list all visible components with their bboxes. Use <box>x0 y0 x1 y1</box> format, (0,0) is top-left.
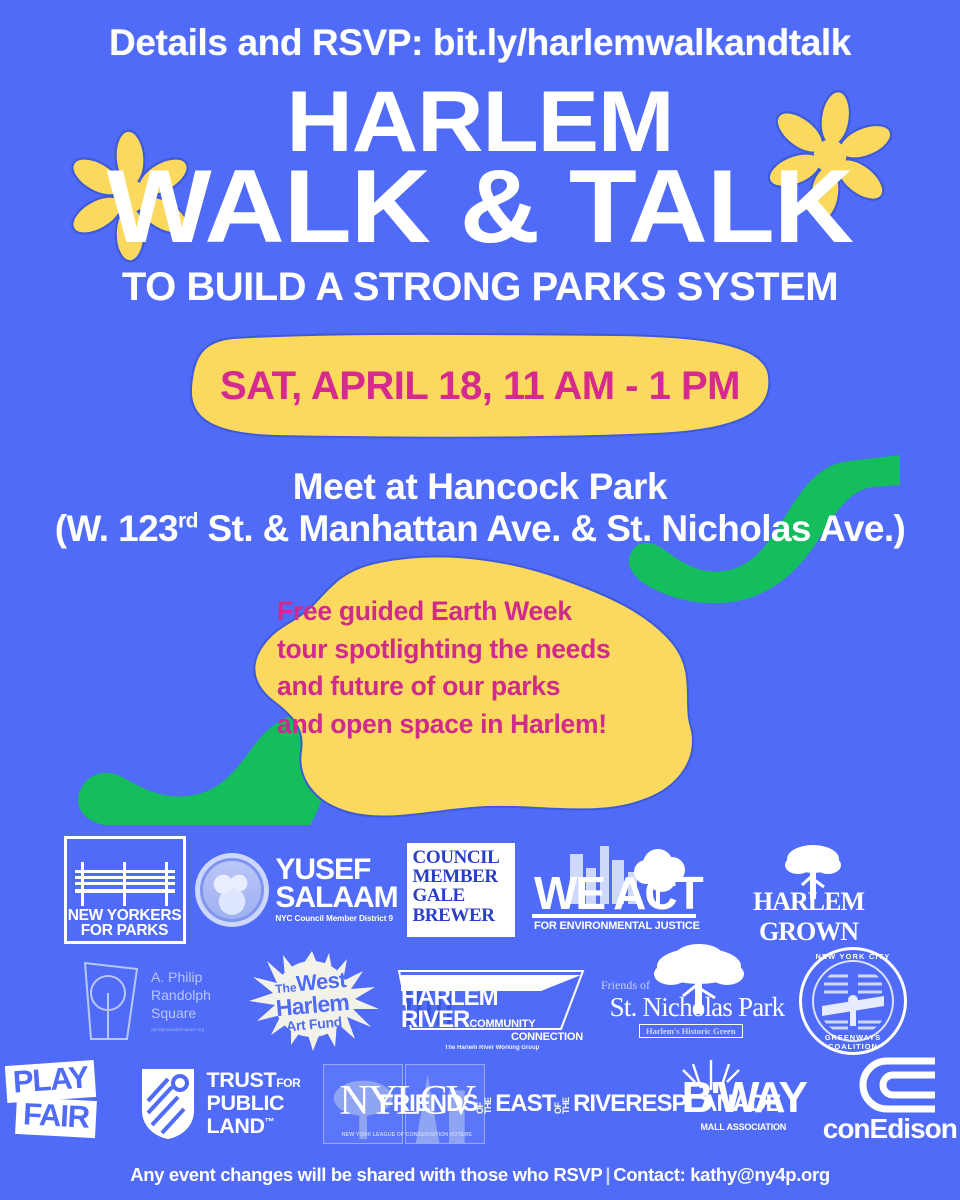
bway-wordmark: B'WAY <box>673 1076 813 1120</box>
fer-ofthe-1: OF THE <box>477 1094 493 1114</box>
shield-icon <box>138 1067 198 1141</box>
date-pill: SAT, APRIL 18, 11 AM - 1 PM <box>185 332 775 442</box>
rsvp-line: Details and RSVP: bit.ly/harlemwalkandta… <box>0 22 960 64</box>
sponsor-logos: NEW YORKERS FOR PARKS YUSEF SALAAM NYC C… <box>0 833 960 1151</box>
aphilip-url: aphiliprandolphsquare.org <box>151 1027 211 1033</box>
logo-new-yorkers-for-parks: NEW YORKERS FOR PARKS <box>57 834 193 946</box>
coned-wordmark: conEdison <box>815 1113 960 1145</box>
tpl-public: PUBLIC <box>207 1092 301 1115</box>
logo-nyc-greenways-coalition: NEW YORK CITY GREENWAYS COALITION <box>799 947 907 1055</box>
location-line1: Meet at Hancock Park <box>0 466 960 508</box>
fer-friends: FRIENDS <box>379 1093 477 1114</box>
logo-play-fair: PLAY FAIR <box>0 1061 116 1146</box>
logo-harlem-river-community-connection: HARLEM RIVERCOMMUNITY CONNECTION The Har… <box>391 951 591 1051</box>
weact-tagline: FOR ENVIRONMENTAL JUSTICE <box>534 920 700 932</box>
date-pill-label: SAT, APRIL 18, 11 AM - 1 PM <box>185 332 775 442</box>
fsnp-park-name: St. Nicholas Park <box>599 992 795 1023</box>
fer-ofthe-2: OF THE <box>555 1094 571 1114</box>
ny4p-line1: NEW YORKERS <box>68 908 182 924</box>
page-title-line2: WALK & TALK <box>0 160 960 256</box>
fsnp-tagline: Harlem's Historic Green <box>639 1024 743 1038</box>
hrcc-river: RIVER <box>401 1006 469 1033</box>
logo-friends-of-st-nicholas-park: Friends of St. Nicholas Park Harlem's Hi… <box>595 948 795 1054</box>
logo-west-harlem-art-fund: TheWest Harlem Art Fund <box>237 947 387 1055</box>
tpl-land: LAND <box>207 1114 265 1138</box>
yusef-first-name: YUSEF <box>275 856 397 884</box>
fsnp-friends-of: Friends of <box>601 978 650 993</box>
square-plaza-icon <box>75 959 143 1043</box>
brewer-line1: COUNCIL <box>413 848 509 867</box>
brewer-line3: GALE <box>413 886 509 905</box>
logo-bway-mall-association: B'WAY MALL ASSOCIATION <box>673 1058 809 1150</box>
location-line2-rest: St. & Manhattan Ave. & St. Nicholas Ave.… <box>198 508 905 549</box>
poster-canvas: Details and RSVP: bit.ly/harlemwalkandta… <box>0 0 960 1200</box>
bway-subtitle: MALL ASSOCIATION <box>673 1122 813 1132</box>
location-line2-prefix: (W. 123 <box>55 508 178 549</box>
logo-harlem-grown: HARLEM GROWN <box>714 845 904 935</box>
description-line-4: and open space in Harlem! <box>277 706 697 744</box>
harlem-grown-wordmark: HARLEM GROWN <box>714 887 904 947</box>
footer-separator: | <box>602 1164 613 1185</box>
sponsor-row-1: NEW YORKERS FOR PARKS YUSEF SALAAM NYC C… <box>0 833 960 946</box>
description-blob: Free guided Earth Week tour spotlighting… <box>205 555 735 820</box>
greenways-top-text: NEW YORK CITY <box>799 952 907 961</box>
logo-trust-for-public-land: TRUSTFOR PUBLIC LAND™ <box>122 1061 316 1147</box>
logo-friends-of-the-east-river-esplanade: FRIENDS OF THEEAST OF THERIVER ESPLANADE <box>492 1058 667 1150</box>
brewer-line4: BREWER <box>413 906 509 925</box>
aphilip-line3: Square <box>151 1005 211 1023</box>
greenway-path-icon <box>818 966 888 1036</box>
footer: Any event changes will be shared with th… <box>0 1164 960 1186</box>
page-subtitle: TO BUILD A STRONG PARKS SYSTEM <box>0 265 960 310</box>
tpl-tm: ™ <box>265 1117 275 1128</box>
hrcc-subtitle: The Harlem River Working Group <box>401 1045 583 1051</box>
logo-gale-brewer: COUNCIL MEMBER GALE BREWER <box>401 840 521 940</box>
description-line-3: and future of our parks <box>277 668 697 706</box>
logo-a-philip-randolph-square: A. Philip Randolph Square aphiliprandolp… <box>53 951 233 1051</box>
logo-con-edison: conEdison <box>815 1059 960 1149</box>
description-line-2: tour spotlighting the needs <box>277 631 697 669</box>
ny4p-label: NEW YORKERS FOR PARKS <box>68 908 182 939</box>
brewer-line2: MEMBER <box>413 867 509 886</box>
tpl-for: FOR <box>276 1076 300 1090</box>
logo-yusef-salaam: YUSEF SALAAM NYC Council Member District… <box>197 842 397 938</box>
fer-east: EAST <box>495 1093 555 1114</box>
greenways-bottom-text: GREENWAYS COALITION <box>799 1033 907 1051</box>
hrcc-community: COMMUNITY <box>469 1018 535 1030</box>
title-line2-text: WALK & TALK <box>107 160 853 256</box>
nylcv-subtitle: NEW YORK LEAGUE OF CONSERVATION VOTERS <box>322 1132 492 1138</box>
whaf-artfund: Art Fund <box>285 1014 342 1033</box>
yusef-last-name: SALAAM <box>275 884 397 912</box>
playfair-line2: FAIR <box>15 1097 97 1138</box>
location-line2: (W. 123rd St. & Manhattan Ave. & St. Nic… <box>0 508 960 550</box>
aphilip-line1: A. Philip <box>151 969 211 987</box>
yusef-subtitle: NYC Council Member District 9 <box>275 914 397 923</box>
weact-wordmark: WE ACT <box>534 870 702 916</box>
aphilip-line2: Randolph <box>151 987 211 1005</box>
footer-contact[interactable]: Contact: kathy@ny4p.org <box>613 1164 830 1185</box>
sponsor-row-2: A. Philip Randolph Square aphiliprandolp… <box>0 946 960 1056</box>
logo-we-act: WE ACT FOR ENVIRONMENTAL JUSTICE <box>525 837 710 942</box>
tpl-trust: TRUST <box>207 1068 277 1092</box>
ny4p-line2: FOR PARKS <box>68 923 182 939</box>
fer-river: RIVER <box>573 1093 641 1114</box>
description-text: Free guided Earth Week tour spotlighting… <box>277 593 697 744</box>
location-ordinal-suffix: rd <box>178 510 198 533</box>
coned-e-icon <box>843 1055 939 1115</box>
nyc-seal-icon <box>195 853 269 927</box>
footer-note: Any event changes will be shared with th… <box>130 1164 602 1185</box>
sponsor-row-3: PLAY FAIR TRUSTFOR PUBLIC LAND™ <box>0 1056 960 1151</box>
park-bench-icon <box>75 862 175 906</box>
description-line-1: Free guided Earth Week <box>277 593 697 631</box>
